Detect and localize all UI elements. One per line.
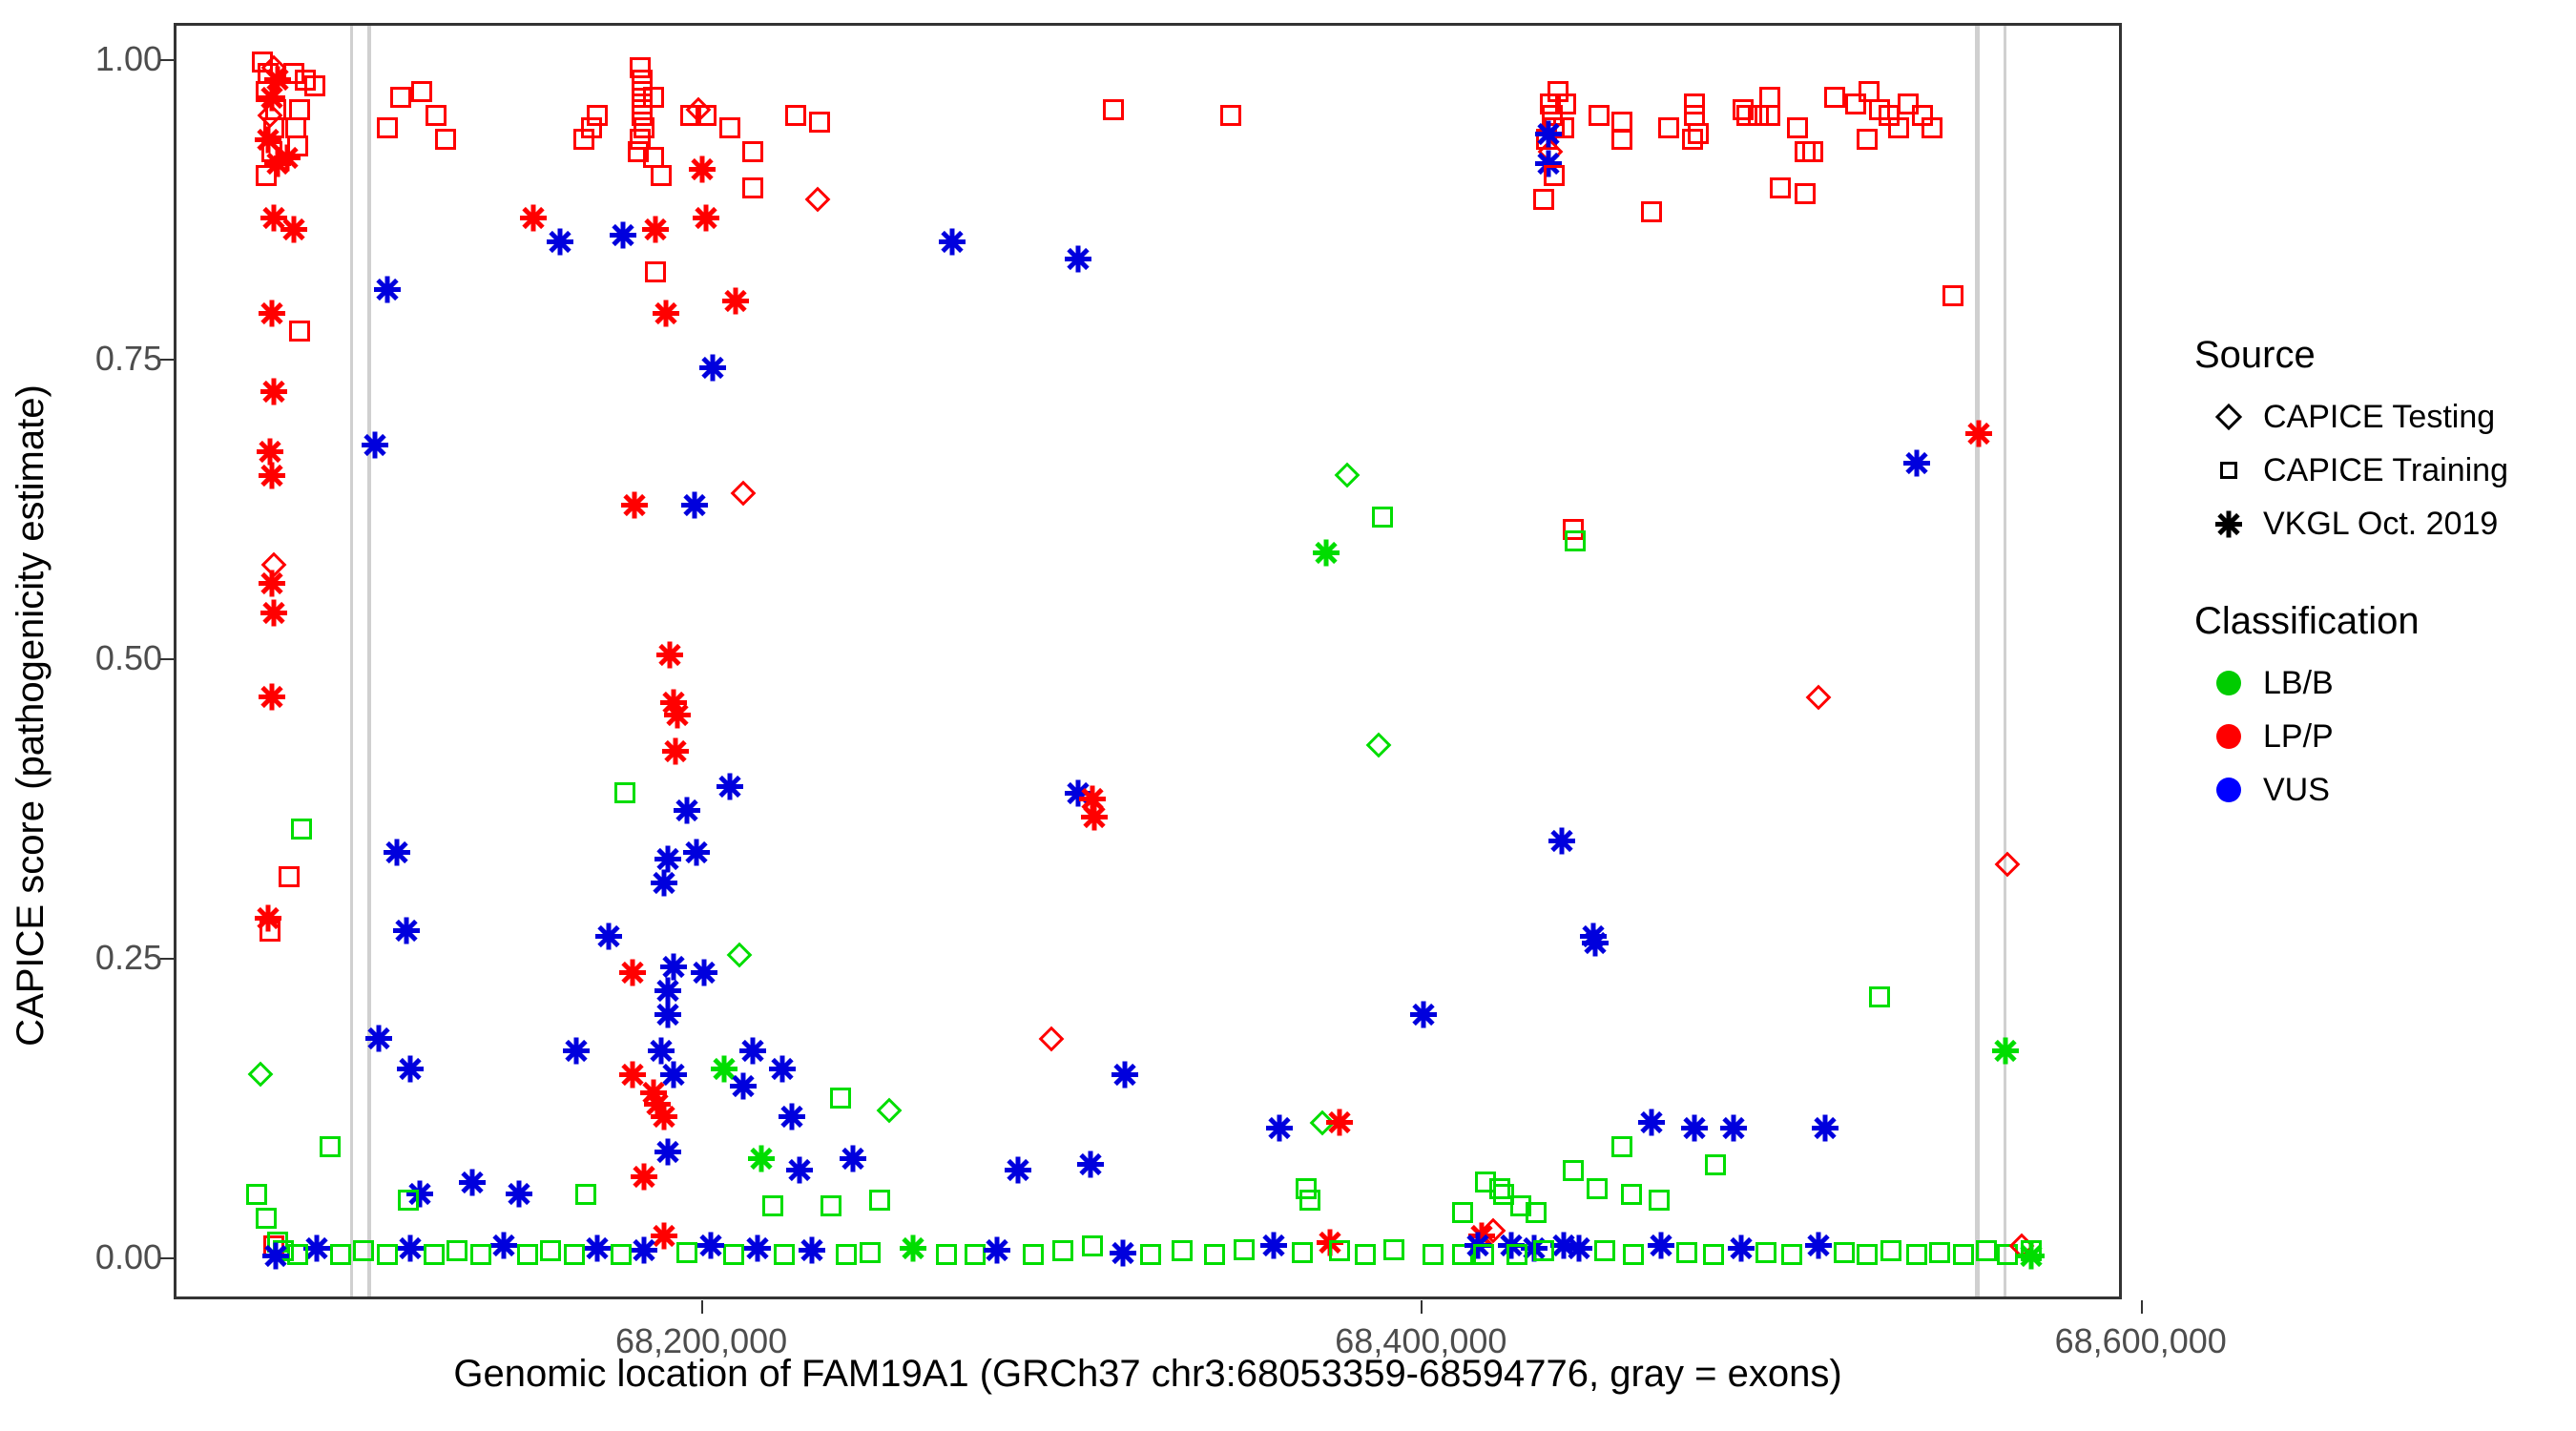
data-point xyxy=(1728,1234,1755,1261)
scatter-plot-area xyxy=(177,26,2119,1296)
data-point xyxy=(1065,246,1091,273)
data-point xyxy=(730,1073,757,1100)
data-point xyxy=(1787,117,1808,138)
data-point xyxy=(1365,732,1391,757)
data-point xyxy=(830,1088,851,1109)
legend-item[interactable]: CAPICE Training xyxy=(2194,444,2557,497)
data-point xyxy=(291,819,312,840)
data-point xyxy=(774,1244,795,1265)
y-tick-mark xyxy=(160,658,174,660)
data-point xyxy=(739,1037,766,1064)
data-point xyxy=(1857,129,1878,150)
data-point xyxy=(595,923,622,950)
data-point xyxy=(769,1055,796,1082)
data-point xyxy=(610,222,636,249)
data-point xyxy=(1355,1244,1376,1265)
data-point xyxy=(447,1240,467,1261)
legend-item[interactable]: VKGL Oct. 2019 xyxy=(2194,497,2557,550)
data-point xyxy=(1903,450,1930,477)
x-tick-mark xyxy=(1421,1300,1423,1314)
data-point xyxy=(1681,1115,1708,1142)
data-point xyxy=(1234,1239,1255,1260)
legend-item[interactable]: LB/B xyxy=(2194,656,2557,710)
data-point xyxy=(621,492,648,519)
data-point xyxy=(247,1062,273,1088)
data-point xyxy=(257,438,283,465)
data-point xyxy=(809,112,830,133)
data-point xyxy=(643,87,664,108)
data-point xyxy=(654,845,681,872)
data-point xyxy=(280,217,307,243)
x-tick-label: 68,200,000 xyxy=(615,1321,787,1361)
data-point xyxy=(1869,986,1890,1007)
data-point xyxy=(259,462,285,488)
data-point xyxy=(1621,1184,1642,1205)
data-point xyxy=(256,1208,277,1229)
data-point xyxy=(744,1234,771,1261)
data-point xyxy=(785,105,806,126)
data-point xyxy=(1594,1240,1615,1261)
plot-panel[interactable] xyxy=(174,23,2122,1299)
data-point xyxy=(1805,1233,1832,1259)
data-point xyxy=(1781,1244,1802,1265)
data-point xyxy=(1759,105,1780,126)
data-point xyxy=(1313,540,1340,567)
y-tick-label: 0.75 xyxy=(29,342,162,376)
data-point xyxy=(804,187,830,213)
exon-marker-line xyxy=(350,26,353,1296)
data-point xyxy=(1038,1026,1064,1051)
data-point xyxy=(731,481,757,507)
y-tick-label: 0.25 xyxy=(29,941,162,975)
data-point xyxy=(651,1103,677,1130)
data-point xyxy=(654,977,681,1004)
x-tick-mark xyxy=(2141,1300,2143,1314)
exon-marker-line xyxy=(2004,26,2006,1296)
legend-item[interactable]: CAPICE Testing xyxy=(2194,390,2557,444)
data-point xyxy=(1566,1234,1592,1261)
data-point xyxy=(696,105,717,126)
data-point xyxy=(1081,803,1108,830)
data-point xyxy=(289,321,310,342)
data-point xyxy=(683,840,710,866)
data-point xyxy=(390,87,411,108)
data-point xyxy=(398,1190,419,1211)
data-point xyxy=(1526,1202,1547,1223)
data-point xyxy=(799,1237,825,1264)
data-point xyxy=(377,117,398,138)
data-point xyxy=(1077,1151,1104,1178)
data-point xyxy=(1548,827,1575,854)
dot-icon xyxy=(2194,656,2263,710)
data-point xyxy=(1587,1178,1608,1199)
data-point xyxy=(1688,123,1709,144)
data-point xyxy=(365,1026,392,1052)
x-tick-mark xyxy=(701,1300,703,1314)
data-point xyxy=(426,105,447,126)
data-point xyxy=(786,1157,813,1184)
data-point xyxy=(1922,117,1942,138)
y-tick-label: 1.00 xyxy=(29,42,162,76)
data-point xyxy=(1976,1240,1997,1261)
data-point xyxy=(1140,1244,1161,1265)
data-point xyxy=(1563,1160,1584,1181)
data-point xyxy=(397,1055,424,1082)
data-point xyxy=(664,701,691,728)
data-point xyxy=(563,1037,590,1064)
data-point xyxy=(1565,530,1586,551)
data-point xyxy=(742,141,763,162)
data-point xyxy=(642,217,669,243)
legend-item-label: LP/P xyxy=(2263,718,2334,756)
data-point xyxy=(1110,1239,1136,1266)
data-point xyxy=(631,1237,657,1264)
data-point xyxy=(1611,129,1632,150)
data-point xyxy=(1535,120,1562,147)
data-point xyxy=(779,1103,805,1130)
x-axis-title: Genomic location of FAM19A1 (GRCh37 chr3… xyxy=(174,1353,2122,1396)
data-point xyxy=(1292,1242,1313,1263)
data-point xyxy=(1992,1037,2019,1064)
data-point xyxy=(470,1244,491,1265)
legend-item[interactable]: VUS xyxy=(2194,763,2557,817)
data-point xyxy=(1995,852,2021,878)
data-point xyxy=(697,1233,724,1259)
data-point xyxy=(651,165,672,186)
data-point xyxy=(936,1244,957,1265)
dot-icon xyxy=(2194,710,2263,763)
data-point xyxy=(384,840,410,866)
data-point xyxy=(1649,1190,1670,1211)
data-point xyxy=(662,737,689,764)
data-point xyxy=(611,1244,632,1265)
data-point xyxy=(693,204,719,231)
data-point xyxy=(1473,1244,1494,1265)
data-point xyxy=(674,798,700,824)
data-point xyxy=(435,129,456,150)
data-point xyxy=(648,1037,675,1064)
data-point xyxy=(1802,141,1823,162)
data-point xyxy=(660,953,687,980)
data-point xyxy=(723,1244,744,1265)
data-point xyxy=(1623,1244,1644,1265)
data-point xyxy=(377,1244,398,1265)
data-point xyxy=(1023,1244,1044,1265)
y-tick-mark xyxy=(160,1257,174,1259)
data-point xyxy=(1220,105,1241,126)
y-tick-label: 0.00 xyxy=(29,1240,162,1275)
data-point xyxy=(393,918,420,944)
legend-title: Source xyxy=(2194,334,2557,377)
data-point xyxy=(1676,1242,1697,1263)
data-point xyxy=(320,1136,341,1157)
data-point xyxy=(900,1234,926,1261)
data-point xyxy=(1720,1115,1747,1142)
data-point xyxy=(374,276,401,302)
diamond-icon xyxy=(2194,390,2263,444)
exon-marker-line xyxy=(1975,26,1980,1296)
data-point xyxy=(1705,1154,1726,1175)
data-point xyxy=(1812,1115,1839,1142)
data-point xyxy=(1204,1244,1225,1265)
legend-item-label: VKGL Oct. 2019 xyxy=(2263,506,2498,543)
data-point xyxy=(584,1234,611,1261)
y-tick-mark xyxy=(160,359,174,361)
data-point xyxy=(1942,285,1963,306)
data-point xyxy=(719,117,740,138)
data-point xyxy=(260,921,280,942)
data-point xyxy=(1299,1190,1320,1211)
exon-marker-line xyxy=(367,26,371,1296)
data-point xyxy=(1005,1157,1031,1184)
data-point xyxy=(362,432,388,459)
data-point xyxy=(939,228,966,255)
data-point xyxy=(1857,1244,1878,1265)
data-point xyxy=(1533,189,1554,210)
legend-separator xyxy=(2194,550,2557,600)
data-point xyxy=(1611,1136,1632,1157)
data-point xyxy=(614,782,635,803)
data-point xyxy=(631,1163,657,1190)
legend: SourceCAPICE TestingCAPICE TrainingVKGL … xyxy=(2194,334,2557,817)
data-point xyxy=(727,942,753,967)
data-point xyxy=(1906,1244,1927,1265)
data-point xyxy=(699,354,726,381)
data-point xyxy=(1335,463,1361,488)
data-point xyxy=(984,1237,1010,1264)
data-point xyxy=(1880,1240,1901,1261)
data-point xyxy=(304,75,325,96)
data-point xyxy=(717,774,743,800)
data-point xyxy=(840,1145,866,1172)
data-point xyxy=(506,1181,532,1208)
legend-item-label: VUS xyxy=(2263,772,2330,809)
data-point xyxy=(564,1244,585,1265)
data-point xyxy=(459,1169,486,1195)
data-point xyxy=(279,866,300,887)
data-point xyxy=(651,869,677,896)
data-point xyxy=(262,1242,289,1269)
data-point xyxy=(1326,1110,1353,1136)
data-point xyxy=(353,1240,374,1261)
data-point xyxy=(1052,1240,1073,1261)
data-point xyxy=(540,1240,561,1261)
legend-item[interactable]: LP/P xyxy=(2194,710,2557,763)
data-point xyxy=(1383,1239,1404,1260)
data-point xyxy=(1658,117,1679,138)
y-axis-title: CAPICE score (pathogenicity estimate) xyxy=(0,0,61,1431)
square-icon xyxy=(2194,444,2263,497)
data-point xyxy=(860,1242,881,1263)
data-point xyxy=(742,177,763,198)
data-point xyxy=(1888,117,1909,138)
data-point xyxy=(654,1001,681,1027)
data-point xyxy=(575,1184,596,1205)
data-point xyxy=(1329,1240,1350,1261)
data-point xyxy=(520,204,547,231)
data-point xyxy=(1929,1242,1950,1263)
data-point xyxy=(653,301,679,327)
data-point xyxy=(748,1145,775,1172)
data-point xyxy=(1582,929,1609,956)
data-point xyxy=(330,1244,351,1265)
data-point xyxy=(660,1061,687,1088)
data-point xyxy=(1648,1233,1674,1259)
data-point xyxy=(689,156,716,183)
data-point xyxy=(619,960,646,986)
data-point xyxy=(1260,1233,1287,1259)
data-point xyxy=(762,1195,783,1216)
legend-title: Classification xyxy=(2194,600,2557,643)
data-point xyxy=(1266,1115,1293,1142)
data-point xyxy=(259,684,285,711)
data-point xyxy=(259,570,285,596)
data-point xyxy=(547,228,573,255)
data-point xyxy=(1703,1244,1724,1265)
data-point xyxy=(681,492,708,519)
data-point xyxy=(1103,99,1124,120)
data-point xyxy=(260,600,287,627)
data-point xyxy=(424,1244,445,1265)
data-point xyxy=(1641,201,1662,222)
data-point xyxy=(260,378,287,404)
data-point xyxy=(1423,1244,1444,1265)
data-point xyxy=(397,1234,424,1261)
data-point xyxy=(1589,105,1610,126)
dot-icon xyxy=(2194,763,2263,817)
legend-item-label: CAPICE Training xyxy=(2263,452,2508,489)
data-point xyxy=(1372,507,1393,528)
asterisk-icon xyxy=(2194,497,2263,550)
data-point xyxy=(654,1139,681,1166)
x-tick-label: 68,400,000 xyxy=(1335,1321,1506,1361)
data-point xyxy=(1824,87,1845,108)
y-tick-mark xyxy=(160,958,174,960)
data-point xyxy=(1638,1110,1665,1136)
data-point xyxy=(490,1233,517,1259)
y-tick-mark xyxy=(160,59,174,61)
data-point xyxy=(1965,420,1992,446)
data-point xyxy=(821,1195,841,1216)
data-point xyxy=(1172,1240,1193,1261)
data-point xyxy=(274,144,301,171)
data-point xyxy=(1452,1202,1473,1223)
data-point xyxy=(411,81,432,102)
data-point xyxy=(869,1190,890,1211)
data-point xyxy=(656,642,683,669)
data-point xyxy=(573,129,594,150)
data-point xyxy=(1806,684,1832,710)
y-tick-label: 0.50 xyxy=(29,641,162,675)
data-point xyxy=(645,261,666,282)
data-point xyxy=(1410,1001,1437,1027)
data-point xyxy=(877,1098,903,1124)
data-point xyxy=(691,960,717,986)
legend-item-label: LB/B xyxy=(2263,665,2334,702)
data-point xyxy=(1755,1242,1776,1263)
data-point xyxy=(2018,1242,2045,1269)
data-point xyxy=(722,288,749,315)
data-point xyxy=(1834,1242,1855,1263)
data-point xyxy=(1544,165,1565,186)
data-point xyxy=(1111,1061,1138,1088)
data-point xyxy=(1533,1240,1554,1261)
data-point xyxy=(1795,183,1816,204)
data-point xyxy=(836,1244,857,1265)
legend-item-label: CAPICE Testing xyxy=(2263,399,2495,436)
data-point xyxy=(246,1184,267,1205)
data-point xyxy=(259,301,285,327)
data-point xyxy=(1953,1244,1974,1265)
data-point xyxy=(1770,177,1791,198)
x-tick-label: 68,600,000 xyxy=(2055,1321,2227,1361)
data-point xyxy=(676,1242,697,1263)
data-point xyxy=(517,1244,538,1265)
data-point xyxy=(1082,1235,1103,1256)
data-point xyxy=(1506,1244,1527,1265)
data-point xyxy=(1555,93,1576,114)
